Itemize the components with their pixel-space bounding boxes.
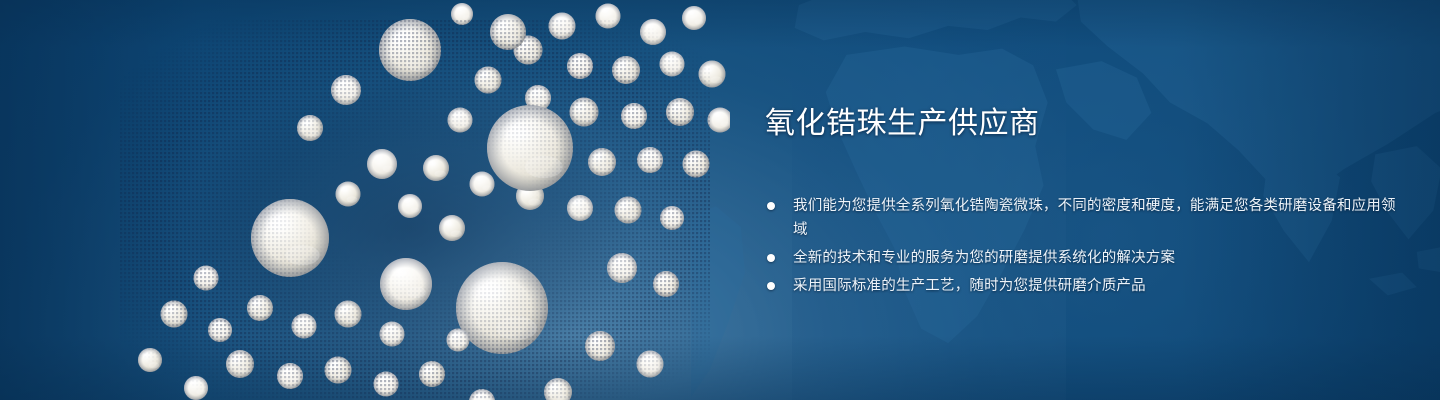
bullet-text: 采用国际标准的生产工艺，随时为您提供研磨介质产品 xyxy=(793,274,1405,298)
banner-headline: 氧化锆珠生产供应商 xyxy=(765,104,1405,144)
list-item: 我们能为您提供全系列氧化锆陶瓷微珠，不同的密度和硬度，能满足您各类研磨设备和应用… xyxy=(765,194,1405,242)
hero-banner: 氧化锆珠生产供应商 我们能为您提供全系列氧化锆陶瓷微珠，不同的密度和硬度，能满足… xyxy=(0,0,1440,400)
bullet-text: 我们能为您提供全系列氧化锆陶瓷微珠，不同的密度和硬度，能满足您各类研磨设备和应用… xyxy=(793,194,1405,242)
banner-copy: 氧化锆珠生产供应商 我们能为您提供全系列氧化锆陶瓷微珠，不同的密度和硬度，能满足… xyxy=(765,104,1405,298)
bullet-dot-icon xyxy=(767,254,775,262)
bullet-dot-icon xyxy=(767,282,775,290)
bullet-text: 全新的技术和专业的服务为您的研磨提供系统化的解决方案 xyxy=(793,246,1405,270)
feature-bullet-list: 我们能为您提供全系列氧化锆陶瓷微珠，不同的密度和硬度，能满足您各类研磨设备和应用… xyxy=(765,194,1405,298)
bullet-dot-icon xyxy=(767,202,775,210)
zirconia-beads-image xyxy=(110,0,730,400)
list-item: 全新的技术和专业的服务为您的研磨提供系统化的解决方案 xyxy=(765,246,1405,270)
list-item: 采用国际标准的生产工艺，随时为您提供研磨介质产品 xyxy=(765,274,1405,298)
